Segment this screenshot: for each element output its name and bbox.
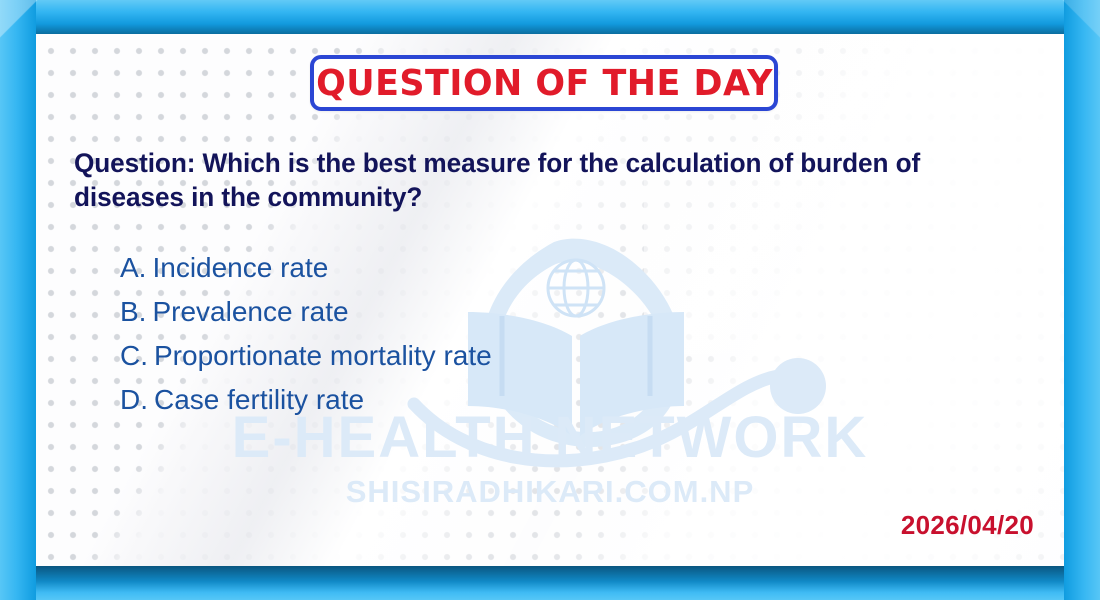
frame-border-left <box>0 0 36 600</box>
frame-border-right <box>1064 0 1100 600</box>
option-b-label: Prevalence rate <box>152 296 348 327</box>
slide-canvas: E-HEALTH NETWORK SHISIRADHIKARI.COM.NP Q… <box>0 0 1100 600</box>
option-b[interactable]: B.Prevalence rate <box>120 290 960 334</box>
option-b-letter: B. <box>120 296 146 327</box>
option-c-letter: C. <box>120 340 148 371</box>
option-d-label: Case fertility rate <box>154 384 364 415</box>
option-a-letter: A. <box>120 252 146 283</box>
content-card: E-HEALTH NETWORK SHISIRADHIKARI.COM.NP Q… <box>36 34 1064 566</box>
answer-options-list: A.Incidence rate B.Prevalence rate C.Pro… <box>120 246 960 422</box>
date-label: 2026/04/20 <box>901 510 1034 541</box>
option-d-letter: D. <box>120 384 148 415</box>
option-c[interactable]: C.Proportionate mortality rate <box>120 334 960 378</box>
question-text: Question: Which is the best measure for … <box>74 146 976 214</box>
title-banner: QUESTION OF THE DAY <box>310 55 778 111</box>
option-d[interactable]: D.Case fertility rate <box>120 378 960 422</box>
page-title: QUESTION OF THE DAY <box>316 63 773 104</box>
frame-border-top <box>0 0 1100 34</box>
option-c-label: Proportionate mortality rate <box>154 340 492 371</box>
option-a[interactable]: A.Incidence rate <box>120 246 960 290</box>
frame-border-bottom <box>0 566 1100 600</box>
option-a-label: Incidence rate <box>152 252 328 283</box>
